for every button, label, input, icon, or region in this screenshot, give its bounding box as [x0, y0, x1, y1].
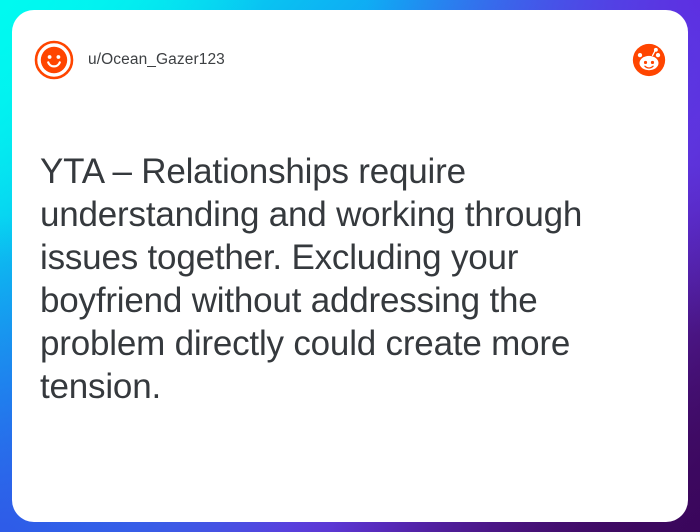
- post-header: u/Ocean_Gazer123: [12, 10, 688, 110]
- username-label: u/Ocean_Gazer123: [88, 51, 225, 69]
- post-text: YTA – Relationships require understandin…: [40, 150, 648, 408]
- reddit-post-card: u/Ocean_Gazer123 YTA – Relationships req…: [12, 10, 688, 522]
- reddit-snoo-logo-icon[interactable]: [632, 43, 666, 77]
- avatar[interactable]: [34, 40, 74, 80]
- post-body: YTA – Relationships require understandin…: [40, 150, 648, 408]
